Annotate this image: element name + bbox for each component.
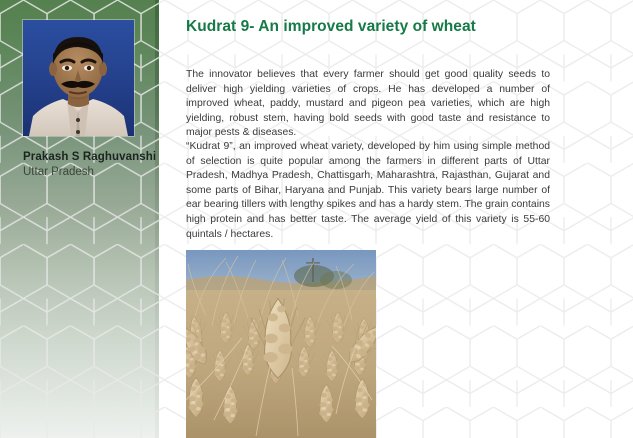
person-portrait-photo [23,20,134,136]
sidebar-edge-stripe [155,0,159,438]
wheat-field-photo-image [186,250,376,438]
page-root: Prakash S Raghuvanshi Uttar Pradesh Kudr… [0,0,633,438]
portrait-photo [23,20,134,136]
paragraph-kudrat9: “Kudrat 9”, an improved wheat variety, d… [186,140,550,242]
main-content: Kudrat 9- An improved variety of wheat T… [186,0,616,438]
paragraph-intro: The innovator believes that every farmer… [186,68,550,141]
person-name: Prakash S Raghuvanshi [23,151,156,163]
person-region: Uttar Pradesh [23,166,94,178]
wheat-field-photo [186,250,376,438]
page-title: Kudrat 9- An improved variety of wheat [186,18,476,36]
